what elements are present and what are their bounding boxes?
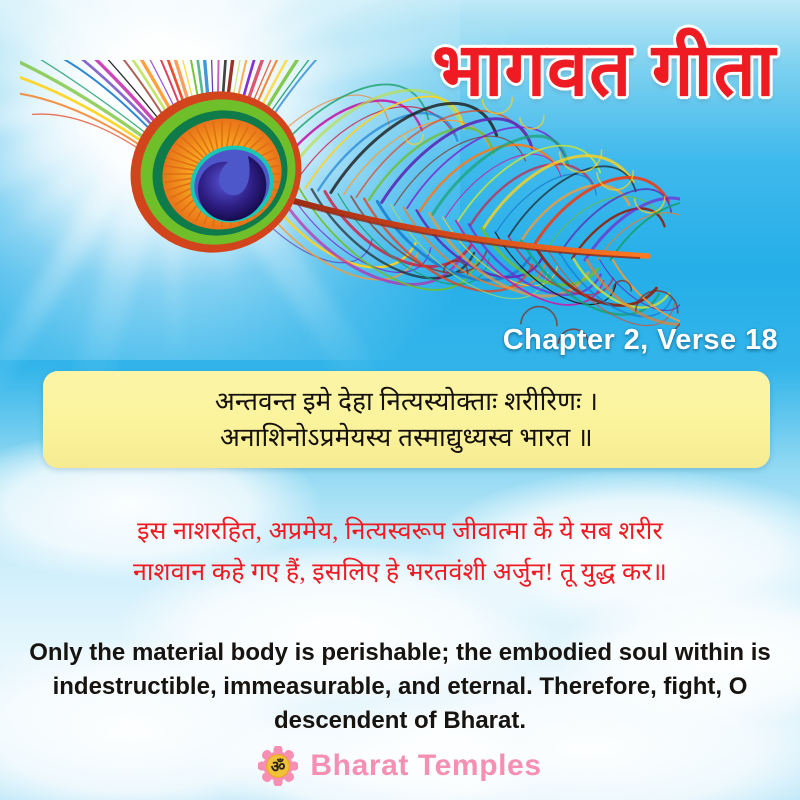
gita-verse-poster: भागवत गीता Chapter 2, Verse 18 अन्तवन्त … (0, 0, 800, 800)
chapter-verse-label: Chapter 2, Verse 18 (503, 324, 778, 357)
om-lotus-icon: ॐ (258, 746, 298, 786)
om-symbol-glyph: ॐ (271, 758, 286, 776)
shloka-line-1: अन्तवन्त इमे देहा नित्यस्योक्ताः शरीरिणः… (215, 384, 598, 419)
hindi-line-2: नाशवान कहे गए हैं, इसलिए हे भरतवंशी अर्ज… (0, 553, 800, 594)
english-translation: Only the material body is perishable; th… (28, 636, 772, 738)
page-title: भागवत गीता (432, 34, 776, 108)
hindi-line-1: इस नाशरहित, अप्रमेय, नित्यस्वरूप जीवात्म… (0, 512, 800, 553)
brand-footer[interactable]: ॐ Bharat Temples (0, 746, 800, 786)
shloka-line-2: अनाशिनोऽप्रमेयस्य तस्माद्युध्यस्व भारत ॥ (220, 420, 593, 455)
hindi-translation: इस नाशरहित, अप्रमेय, नित्यस्वरूप जीवात्म… (0, 512, 800, 593)
shloka-box: अन्तवन्त इमे देहा नित्यस्योक्ताः शरीरिणः… (43, 371, 770, 468)
brand-name: Bharat Temples (310, 749, 541, 783)
